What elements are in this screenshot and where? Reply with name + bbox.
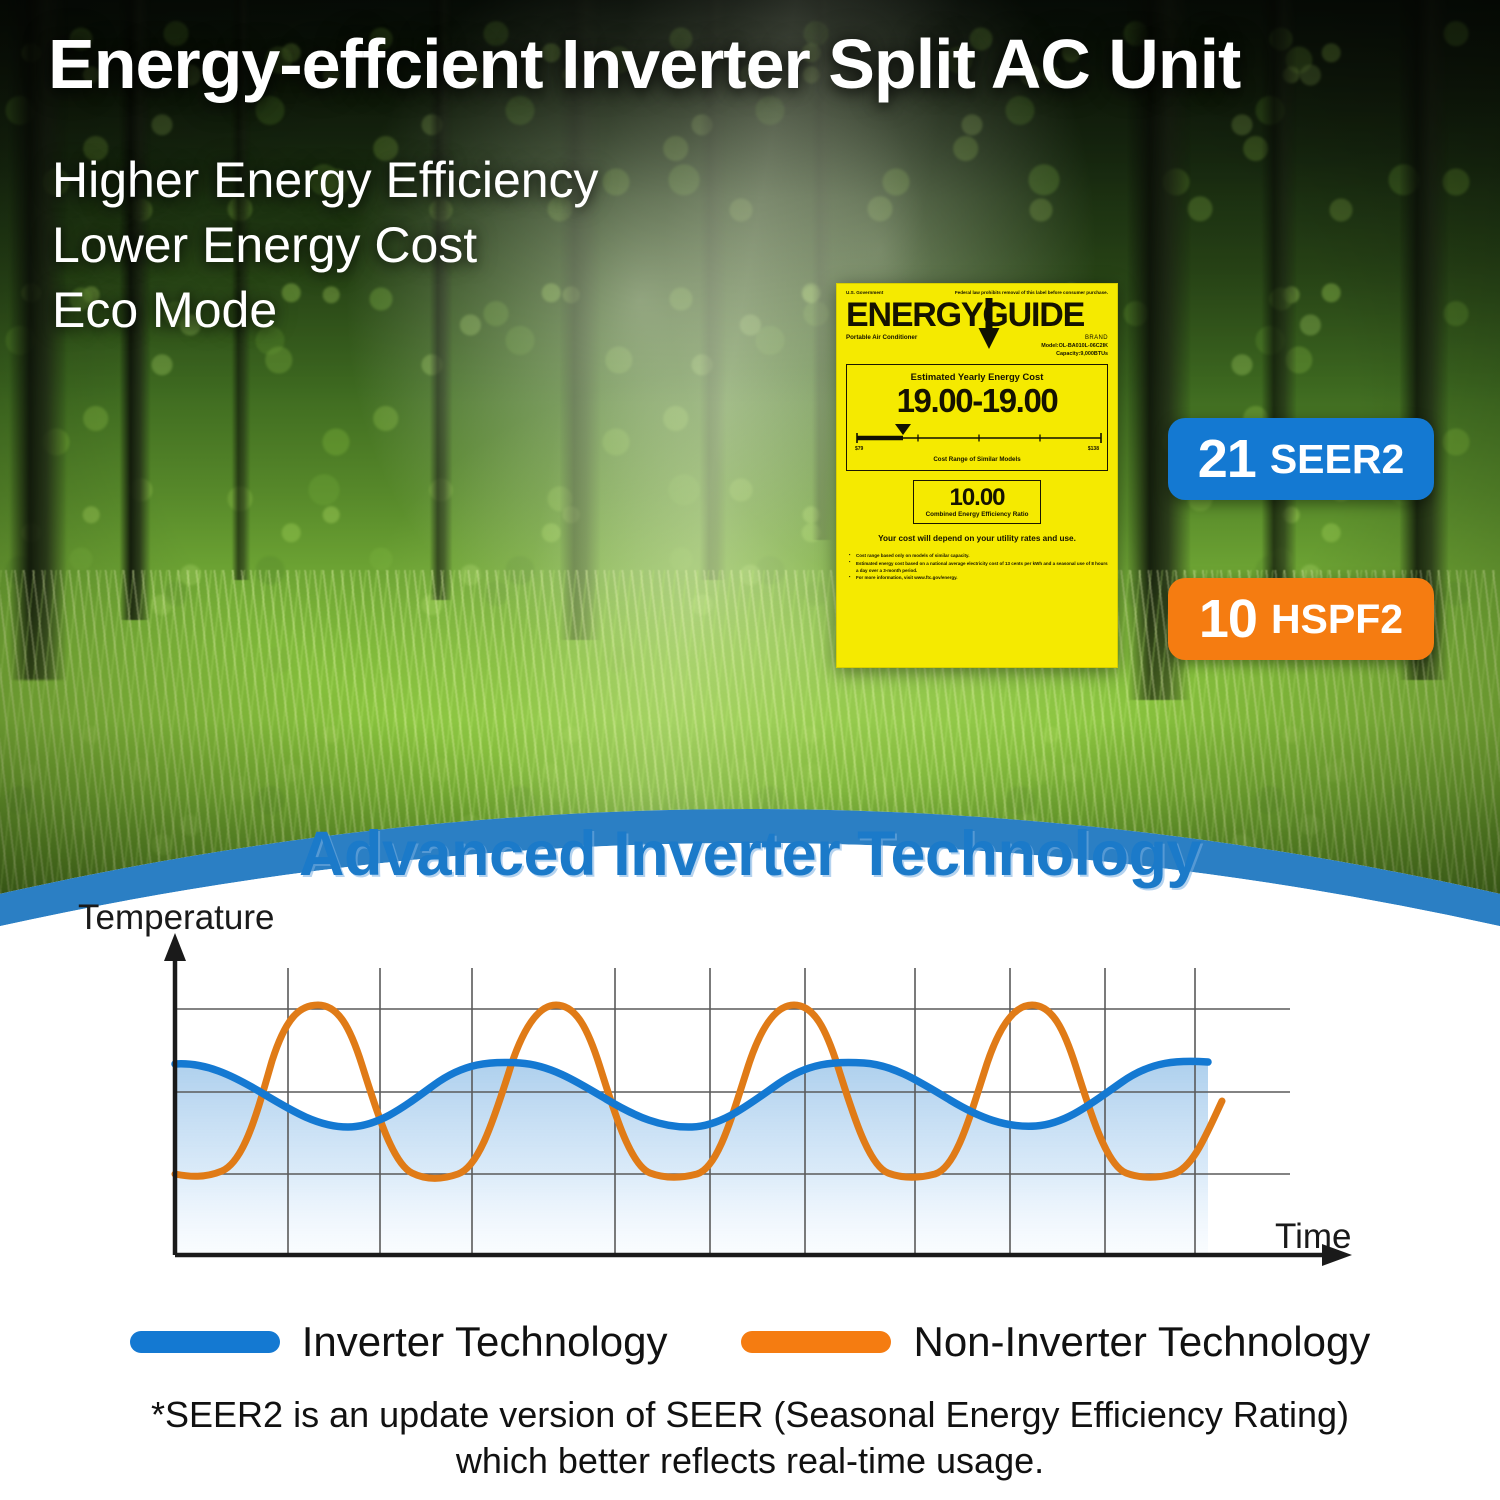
legend-label-non-inverter: Non-Inverter Technology [913, 1318, 1370, 1366]
yearly-cost-title: Estimated Yearly Energy Cost [855, 371, 1099, 382]
legend-item-inverter: Inverter Technology [130, 1318, 668, 1366]
badge-seer2-value: 21 [1198, 432, 1256, 486]
cost-range-scale [855, 424, 1099, 450]
inverter-comparison-chart: Temperature Time [0, 895, 1500, 1315]
badge-seer2: 21 SEER2 [1168, 418, 1434, 500]
ceer-box: 10.00 Combined Energy Efficiency Ratio [913, 480, 1041, 524]
cost-range-ruler [855, 424, 1103, 446]
fine-print-item: Cost range based only on models of simil… [849, 552, 1108, 559]
legend-item-non-inverter: Non-Inverter Technology [741, 1318, 1370, 1366]
feature-item-1: Higher Energy Efficiency [52, 148, 599, 213]
energyguide-title-block: ENERGYGUIDE [846, 296, 1108, 340]
banner-title: Advanced Inverter Technology [0, 818, 1500, 890]
legend-label-inverter: Inverter Technology [302, 1318, 668, 1366]
fine-print-item: Estimated energy cost based on a nationa… [849, 560, 1108, 575]
feature-list: Higher Energy Efficiency Lower Energy Co… [52, 148, 599, 343]
footnote-line-2: which better reflects real-time usage. [0, 1438, 1500, 1484]
model-text: Model:OL-BA010L-06C2IK [1041, 343, 1108, 351]
inverter-curve [175, 1061, 1208, 1127]
down-arrow-icon [978, 298, 1000, 350]
chart-plot-area [175, 968, 1290, 1255]
badge-hspf2-value: 10 [1199, 592, 1257, 646]
seer2-footnote: *SEER2 is an update version of SEER (Sea… [0, 1392, 1500, 1484]
inverter-area-fill [175, 1061, 1208, 1255]
energyguide-wordmark: ENERGYGUIDE [846, 296, 1108, 334]
badge-hspf2-unit: HSPF2 [1271, 599, 1403, 640]
legend-swatch-inverter [130, 1331, 280, 1353]
badge-seer2-unit: SEER2 [1270, 439, 1404, 480]
feature-item-2: Lower Energy Cost [52, 213, 599, 278]
cost-range-caption: Cost Range of Similar Models [855, 456, 1099, 463]
legend-swatch-non-inverter [741, 1331, 891, 1353]
energyguide-label: U.S. Government Federal law prohibits re… [836, 283, 1118, 668]
x-axis-label: Time [1275, 1217, 1351, 1257]
yearly-cost-value: 19.00-19.00 [855, 384, 1099, 419]
fine-print-item: For more information, visit www.ftc.gov/… [849, 574, 1108, 581]
page-title: Energy-effcient Inverter Split AC Unit [48, 28, 1468, 102]
footnote-line-1: *SEER2 is an update version of SEER (Sea… [0, 1392, 1500, 1438]
ceer-value: 10.00 [918, 485, 1036, 510]
badge-hspf2: 10 HSPF2 [1168, 578, 1434, 660]
capacity-text: Capacity:9,000BTUs [1041, 351, 1108, 359]
utility-rates-disclaimer: Your cost will depend on your utility ra… [846, 534, 1108, 543]
us-government-text: U.S. Government [846, 290, 883, 295]
ceer-label: Combined Energy Efficiency Ratio [918, 511, 1036, 518]
y-axis-label: Temperature [78, 898, 274, 938]
energyguide-header-row: U.S. Government Federal law prohibits re… [846, 290, 1108, 295]
energyguide-fine-print: Cost range based only on models of simil… [846, 552, 1108, 582]
feature-item-3: Eco Mode [52, 278, 599, 343]
chart-legend: Inverter Technology Non-Inverter Technol… [0, 1318, 1500, 1366]
promo-graphic: Energy-effcient Inverter Split AC Unit H… [0, 0, 1500, 1500]
yearly-cost-box: Estimated Yearly Energy Cost 19.00-19.00… [846, 364, 1108, 471]
federal-law-text: Federal law prohibits removal of this la… [955, 290, 1108, 295]
